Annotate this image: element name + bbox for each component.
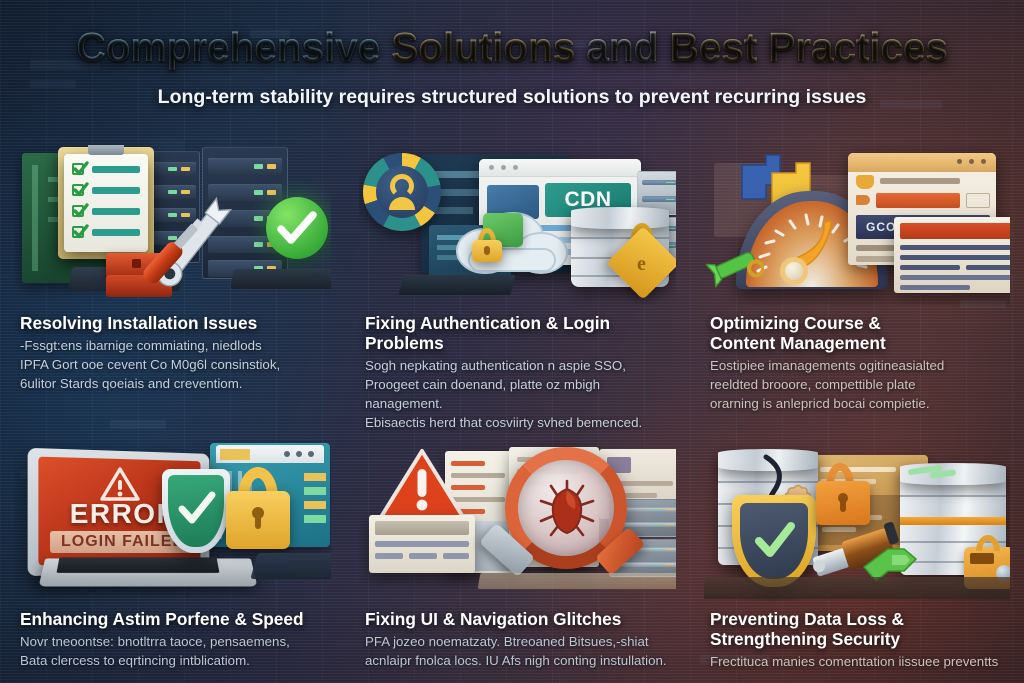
green-wrench-icon [706,243,764,293]
title-word-1: Comprehensive [76,24,380,70]
card-body: Frectituca manies comenttation iissuee p… [710,653,1004,672]
title-word-3: and [586,24,658,70]
keyboard [57,557,220,572]
card-heading-line: Preventing Data Loss & [710,609,1004,629]
card-body-line: IPFA Gort ooe cevent Co M0g6l consinstio… [20,356,325,375]
form-header [375,521,469,535]
card-body-line: 6ulitor Stards qoeiais and creventiom. [20,375,325,394]
browser-titlebar [479,159,641,177]
card-heading: Preventing Data Loss & Strengthening Sec… [710,609,1004,649]
card-heading: Fixing Authentication & Login Problems [365,313,670,353]
card-body-line: -Fssgt:ens ibarnige commiating, niedlods [20,337,325,356]
card-heading-line: Resolving Installation Issues [20,313,257,333]
card-heading-line: Fixing UI & Navigation Glitches [365,609,621,629]
card-heading: Enhancing Astim Porfene & Speed [20,609,325,629]
check-icon [172,485,220,533]
card-preventing-data-loss-strengthening-security: Preventing Data Loss & Strengthening Sec… [690,441,1024,672]
card-row-bottom: ERROR LOGIN FAILED [0,441,1024,672]
title-word-4: Best Practices [669,24,947,70]
page-title: Comprehensive Solutions and Best Practic… [0,24,1024,71]
screwdriver-icon [120,207,218,305]
card-heading-line: Enhancing Astim Porfene & Speed [20,609,304,629]
card-fixing-authentication-login-problems: CDN [345,145,690,433]
cta-bar [876,193,960,208]
title-word-2: Solutions [391,24,575,70]
card-optimizing-course-content-management: GCOWAK [690,145,1024,433]
card-heading-line: Content Management [710,333,1004,353]
card-fixing-ui-navigation-glitches: Fixing UI & Navigation Glitches PFA joze… [345,441,690,672]
card-heading: Resolving Installation Issues [20,313,325,333]
card-body-line: Novr tneoontse: bnotltrra taoce, pensaem… [20,633,325,652]
browser-titlebar [848,153,996,172]
card-body-line: acnlaipr fnolca locs. IU Afs nigh contin… [365,652,670,671]
card-heading: Optimizing Course & Content Management [710,313,1004,353]
status-band [900,517,1006,525]
user-icon [390,174,414,198]
card-body: -Fssgt:ens ibarnige commiating, niedlods… [20,337,325,394]
folder-icon [856,175,874,189]
desk-surface [250,553,331,579]
check-icon [748,515,800,567]
card-body: Sogh nepkating authentication n aspie SS… [365,357,670,433]
panel-header [900,223,1010,239]
card-body-line: Bata clercess to eqrtincing intblicatiom… [20,652,325,671]
check-icon [73,161,89,177]
card-body-line: reeldted brooore, compettible plate [710,376,1004,395]
card-body: PFA jozeo noematzaty. Btreoaned Bitsues,… [365,633,670,671]
database-top [571,207,669,229]
authentication-cdn-cloud-illustration: CDN [359,145,676,305]
card-heading: Fixing UI & Navigation Glitches [365,609,670,629]
page-subtitle: Long-term stability requires structured … [0,86,1024,109]
check-icon [73,203,89,219]
badge-icon [856,195,870,205]
card-grid: Resolving Installation Issues -Fssgt:ens… [0,145,1024,672]
card-body-line: Eostipiee imanagements ogitineasialted [710,357,1004,376]
clipboard-clip [88,145,124,155]
installation-checklist-tools-illustration [14,145,331,305]
card-enhancing-system-performance-speed: ERROR LOGIN FAILED [0,441,345,672]
gauge-hub [780,257,808,285]
card-body-line: Proogeet cain doenand, platte oz mbigh n… [365,376,670,414]
bug-icon [533,475,601,543]
card-body-line: Frectituca manies comenttation iissuee p… [710,653,1004,672]
card-body-line: PFA jozeo noematzaty. Btreoaned Bitsues,… [365,633,670,652]
card-heading-line: Strengthening Security [710,629,1004,649]
card-body-line: Ebisaectis herd that cosviirty svhed bem… [365,414,670,433]
card-body: Eostipiee imanagements ogitineasialted r… [710,357,1004,414]
desk-surface [704,577,1010,599]
warning-bug-magnifier-illustration [359,441,676,601]
card-heading-line: Fixing Authentication & Login Problems [365,313,610,353]
laptop-login-error-security-illustration: ERROR LOGIN FAILED [14,441,331,601]
card-body: Novr tneoontse: bnotltrra taoce, pensaem… [20,633,325,671]
database-backup-security-illustration [704,441,1010,601]
infographic-canvas: Comprehensive Solutions and Best Practic… [0,0,1024,683]
card-row-top: Resolving Installation Issues -Fssgt:ens… [0,145,1024,433]
header: Comprehensive Solutions and Best Practic… [0,0,1024,109]
green-check-badge [266,197,328,259]
desk-surface [478,573,676,589]
card-resolving-installation-issues: Resolving Installation Issues -Fssgt:ens… [0,145,345,433]
card-body-line: orarning is anlepricd bocai compietie. [710,395,1004,414]
check-icon [73,182,89,198]
check-icon [73,224,89,240]
warning-triangle-icon [377,447,467,523]
padlock-keyhole [484,246,490,255]
warning-triangle-icon [100,467,140,501]
card-heading-line: Optimizing Course & [710,313,1004,333]
padlock-keyhole: e [637,253,650,273]
card-body-line: Sogh nepkating authentication n aspie SS… [365,357,670,376]
performance-gauge-content-windows-illustration: GCOWAK [704,145,1010,305]
